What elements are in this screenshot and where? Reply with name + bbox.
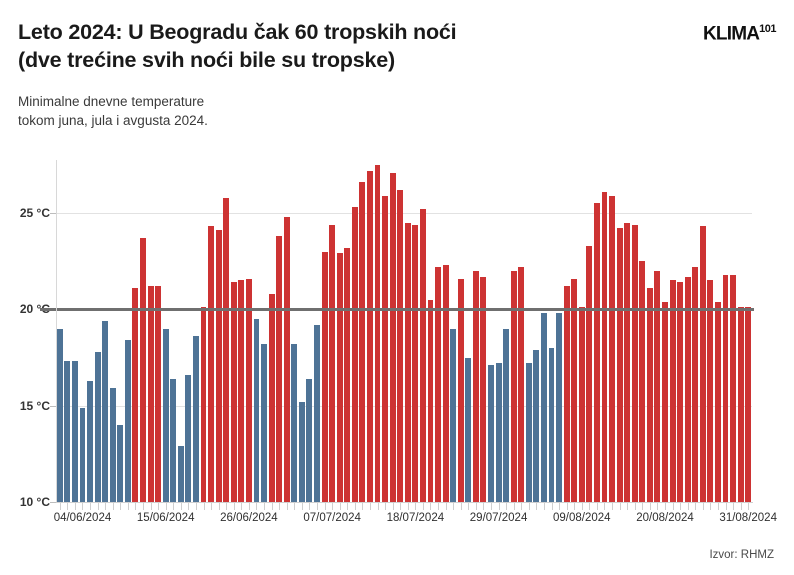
bar-29/06/2024[interactable] [269, 294, 275, 502]
x-tick-minor-83 [688, 503, 689, 510]
x-tick-minor-13 [158, 503, 159, 510]
x-tick-minor-66 [559, 503, 560, 510]
x-axis-label-09/08/2024: 09/08/2024 [553, 512, 611, 524]
x-axis-label-29/07/2024: 29/07/2024 [470, 512, 528, 524]
bar-15/06/2024[interactable] [163, 329, 169, 502]
x-tick-minor-68 [574, 503, 575, 510]
bar-06/06/2024[interactable] [95, 352, 101, 502]
x-tick-minor-86 [710, 503, 711, 510]
x-tick-minor-28 [272, 503, 273, 510]
x-axis-label-15/06/2024: 15/06/2024 [137, 512, 195, 524]
x-tick-minor-85 [703, 503, 704, 510]
x-tick-minor-54 [468, 503, 469, 510]
bar-17/08/2024[interactable] [639, 261, 645, 502]
bar-29/07/2024[interactable] [496, 363, 502, 502]
x-tick-minor-20 [211, 503, 212, 510]
x-axis-label-31/08/2024: 31/08/2024 [719, 512, 777, 524]
bar-08/06/2024[interactable] [110, 388, 116, 502]
bar-22/06/2024[interactable] [216, 230, 222, 502]
x-tick-minor-0 [60, 503, 61, 510]
x-tick-minor-22 [226, 503, 227, 510]
bar-21/06/2024[interactable] [208, 226, 214, 502]
x-tick-minor-34 [317, 503, 318, 510]
x-tick-minor-32 [302, 503, 303, 510]
bar-02/07/2024[interactable] [291, 344, 297, 502]
bar-25/06/2024[interactable] [238, 280, 244, 502]
bar-24/07/2024[interactable] [458, 279, 464, 502]
x-tick-minor-11 [143, 503, 144, 510]
bar-15/08/2024[interactable] [624, 223, 630, 502]
x-tick-minor-18 [196, 503, 197, 510]
bar-17/06/2024[interactable] [178, 446, 184, 502]
x-tick-minor-8 [120, 503, 121, 510]
bar-26/06/2024[interactable] [246, 279, 252, 502]
x-tick-minor-14 [166, 503, 167, 510]
bar-13/06/2024[interactable] [148, 286, 154, 502]
bar-31/08/2024[interactable] [745, 307, 751, 502]
x-axis-label-04/06/2024: 04/06/2024 [54, 512, 112, 524]
x-tick-minor-6 [105, 503, 106, 510]
x-tick-minor-33 [309, 503, 310, 510]
bar-19/07/2024[interactable] [420, 209, 426, 502]
bar-01/06/2024[interactable] [57, 329, 63, 502]
bar-15/07/2024[interactable] [390, 173, 396, 502]
x-tick-minor-58 [499, 503, 500, 510]
bar-01/08/2024[interactable] [518, 267, 524, 502]
x-tick-minor-41 [370, 503, 371, 510]
bar-26/07/2024[interactable] [473, 271, 479, 502]
x-tick-minor-87 [718, 503, 719, 510]
x-tick-minor-64 [544, 503, 545, 510]
x-tick-minor-7 [113, 503, 114, 510]
x-tick-minor-82 [680, 503, 681, 510]
bar-22/07/2024[interactable] [443, 265, 449, 502]
x-tick-minor-72 [604, 503, 605, 510]
bar-08/08/2024[interactable] [571, 279, 577, 502]
y-axis-label-15: 15 °C [0, 399, 50, 413]
bar-05/07/2024[interactable] [314, 325, 320, 502]
bar-17/07/2024[interactable] [405, 223, 411, 502]
x-tick-minor-31 [294, 503, 295, 510]
bar-02/06/2024[interactable] [64, 361, 70, 502]
bar-14/07/2024[interactable] [382, 196, 388, 502]
bar-05/06/2024[interactable] [87, 381, 93, 502]
x-tick-minor-24 [241, 503, 242, 510]
x-tick-minor-5 [98, 503, 99, 510]
x-tick-minor-47 [415, 503, 416, 510]
bar-20/06/2024[interactable] [201, 307, 207, 502]
x-axis-label-07/07/2024: 07/07/2024 [303, 512, 361, 524]
bar-13/08/2024[interactable] [609, 196, 615, 502]
bar-09/08/2024[interactable] [579, 307, 585, 502]
bar-07/06/2024[interactable] [102, 321, 108, 502]
x-tick-minor-25 [249, 503, 250, 510]
bar-23/06/2024[interactable] [223, 198, 229, 502]
x-tick-minor-53 [461, 503, 462, 510]
x-tick-minor-43 [385, 503, 386, 510]
chart-page: Leto 2024: U Beogradu čak 60 tropskih no… [0, 0, 794, 575]
x-tick-minor-17 [188, 503, 189, 510]
bar-04/07/2024[interactable] [306, 379, 312, 502]
bar-09/06/2024[interactable] [117, 425, 123, 502]
x-tick-minor-56 [483, 503, 484, 510]
x-tick-minor-2 [75, 503, 76, 510]
x-tick-minor-79 [657, 503, 658, 510]
bar-12/08/2024[interactable] [602, 192, 608, 502]
bar-18/08/2024[interactable] [647, 288, 653, 502]
y-axis-label-25: 25 °C [0, 206, 50, 220]
x-tick-minor-69 [582, 503, 583, 510]
x-tick-minor-63 [536, 503, 537, 510]
x-tick-minor-15 [173, 503, 174, 510]
x-tick-minor-3 [82, 503, 83, 510]
x-tick-minor-26 [256, 503, 257, 510]
x-axis-label-18/07/2024: 18/07/2024 [387, 512, 445, 524]
y-axis-label-10: 10 °C [0, 495, 50, 509]
bar-21/07/2024[interactable] [435, 267, 441, 502]
bar-30/08/2024[interactable] [738, 307, 744, 502]
x-tick-minor-21 [219, 503, 220, 510]
temperature-bar-chart: 10 °C15 °C20 °C25 °C04/06/202415/06/2024… [0, 0, 794, 575]
bar-08/07/2024[interactable] [337, 253, 343, 502]
bar-07/08/2024[interactable] [564, 286, 570, 502]
x-tick-minor-12 [151, 503, 152, 510]
x-tick-minor-27 [264, 503, 265, 510]
bar-16/08/2024[interactable] [632, 225, 638, 502]
x-tick-minor-78 [650, 503, 651, 510]
x-tick-minor-84 [695, 503, 696, 510]
x-tick-minor-40 [362, 503, 363, 510]
bar-19/08/2024[interactable] [654, 271, 660, 502]
x-tick-minor-30 [287, 503, 288, 510]
x-tick-minor-57 [491, 503, 492, 510]
bar-18/07/2024[interactable] [412, 225, 418, 502]
x-axis-line [56, 502, 753, 503]
x-tick-minor-1 [67, 503, 68, 510]
bar-25/08/2024[interactable] [700, 226, 706, 502]
bar-10/08/2024[interactable] [586, 246, 592, 502]
x-tick-minor-36 [332, 503, 333, 510]
bar-11/08/2024[interactable] [594, 203, 600, 502]
x-tick-minor-51 [446, 503, 447, 510]
x-tick-minor-77 [642, 503, 643, 510]
x-tick-minor-91 [748, 503, 749, 510]
x-tick-minor-76 [635, 503, 636, 510]
x-tick-minor-9 [128, 503, 129, 510]
bar-04/08/2024[interactable] [541, 313, 547, 502]
bar-28/07/2024[interactable] [488, 365, 494, 502]
bar-11/07/2024[interactable] [359, 182, 365, 502]
x-tick-minor-19 [204, 503, 205, 510]
x-tick-minor-4 [90, 503, 91, 510]
x-tick-minor-75 [627, 503, 628, 510]
source-note: Izvor: RHMZ [709, 549, 774, 561]
x-tick-minor-55 [476, 503, 477, 510]
bar-03/07/2024[interactable] [299, 402, 305, 502]
bar-10/07/2024[interactable] [352, 207, 358, 502]
bar-16/07/2024[interactable] [397, 190, 403, 502]
bar-02/08/2024[interactable] [526, 363, 532, 502]
x-tick-minor-48 [423, 503, 424, 510]
bar-01/07/2024[interactable] [284, 217, 290, 502]
x-tick-minor-60 [514, 503, 515, 510]
bar-12/06/2024[interactable] [140, 238, 146, 502]
x-tick-minor-50 [438, 503, 439, 510]
x-tick-minor-62 [529, 503, 530, 510]
bar-28/06/2024[interactable] [261, 344, 267, 502]
bar-26/08/2024[interactable] [707, 280, 713, 502]
bar-18/06/2024[interactable] [185, 375, 191, 502]
bar-19/06/2024[interactable] [193, 336, 199, 502]
bar-14/08/2024[interactable] [617, 228, 623, 502]
bar-24/06/2024[interactable] [231, 282, 237, 502]
bar-03/06/2024[interactable] [72, 361, 78, 502]
bar-11/06/2024[interactable] [132, 288, 138, 502]
y-axis-line [56, 160, 57, 502]
x-axis-label-26/06/2024: 26/06/2024 [220, 512, 278, 524]
bar-30/07/2024[interactable] [503, 329, 509, 502]
x-tick-minor-39 [355, 503, 356, 510]
bar-20/07/2024[interactable] [428, 300, 434, 502]
gridline-25 [56, 213, 752, 214]
bar-12/07/2024[interactable] [367, 171, 373, 502]
x-tick-minor-45 [400, 503, 401, 510]
x-tick-minor-71 [597, 503, 598, 510]
x-tick-minor-42 [378, 503, 379, 510]
bar-20/08/2024[interactable] [662, 302, 668, 502]
bar-31/07/2024[interactable] [511, 271, 517, 502]
x-tick-minor-49 [430, 503, 431, 510]
x-tick-minor-37 [340, 503, 341, 510]
x-tick-minor-46 [408, 503, 409, 510]
bar-10/06/2024[interactable] [125, 340, 131, 502]
bar-03/08/2024[interactable] [533, 350, 539, 502]
x-tick-minor-88 [726, 503, 727, 510]
x-axis-label-20/08/2024: 20/08/2024 [636, 512, 694, 524]
x-tick-minor-70 [589, 503, 590, 510]
bar-06/07/2024[interactable] [322, 252, 328, 502]
bar-30/06/2024[interactable] [276, 236, 282, 502]
bar-06/08/2024[interactable] [556, 313, 562, 502]
x-tick-minor-67 [567, 503, 568, 510]
bar-16/06/2024[interactable] [170, 379, 176, 502]
x-tick-minor-35 [325, 503, 326, 510]
x-tick-minor-23 [234, 503, 235, 510]
bar-05/08/2024[interactable] [549, 348, 555, 502]
bar-27/08/2024[interactable] [715, 302, 721, 502]
bar-14/06/2024[interactable] [155, 286, 161, 502]
bar-04/06/2024[interactable] [80, 408, 86, 502]
x-tick-minor-89 [733, 503, 734, 510]
bar-24/08/2024[interactable] [692, 267, 698, 502]
x-tick-minor-59 [506, 503, 507, 510]
bar-23/07/2024[interactable] [450, 329, 456, 502]
bar-25/07/2024[interactable] [465, 358, 471, 503]
bar-22/08/2024[interactable] [677, 282, 683, 502]
x-tick-minor-10 [135, 503, 136, 510]
x-tick-minor-73 [612, 503, 613, 510]
x-tick-minor-81 [673, 503, 674, 510]
x-tick-minor-90 [741, 503, 742, 510]
x-tick-minor-52 [453, 503, 454, 510]
x-tick-minor-29 [279, 503, 280, 510]
x-tick-minor-74 [620, 503, 621, 510]
x-tick-minor-38 [347, 503, 348, 510]
x-tick-minor-65 [552, 503, 553, 510]
x-tick-minor-61 [521, 503, 522, 510]
bar-09/07/2024[interactable] [344, 248, 350, 502]
tropical-night-threshold-line [40, 308, 754, 311]
bar-21/08/2024[interactable] [670, 280, 676, 502]
bar-07/07/2024[interactable] [329, 225, 335, 502]
x-tick-minor-44 [393, 503, 394, 510]
bar-27/06/2024[interactable] [254, 319, 260, 502]
x-tick-minor-80 [665, 503, 666, 510]
x-tick-minor-16 [181, 503, 182, 510]
bar-13/07/2024[interactable] [375, 165, 381, 502]
